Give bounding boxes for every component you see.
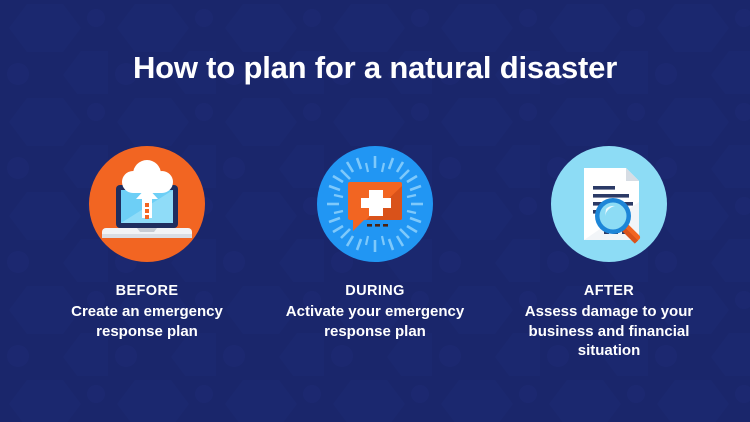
step-heading-before: BEFORE <box>32 282 262 301</box>
emergency-alert-speech-bubble-icon <box>317 146 433 262</box>
step-heading-after: AFTER <box>494 282 724 301</box>
step-icon-circle-after <box>551 146 667 262</box>
step-icon-circle-before <box>89 146 205 262</box>
step-heading-during: DURING <box>260 282 490 301</box>
step-card-before: BEFORE Create an emergency response plan <box>32 140 262 341</box>
document-magnifier-icon <box>551 146 667 262</box>
laptop-cloud-upload-icon <box>89 146 205 262</box>
infographic-poster: How to plan for a natural disaster <box>0 0 750 422</box>
step-description-before: Create an emergency response plan <box>32 302 262 341</box>
step-description-after: Assess damage to your business and finan… <box>494 302 724 361</box>
step-description-during: Activate your emergency response plan <box>260 302 490 341</box>
page-title: How to plan for a natural disaster <box>0 48 750 88</box>
step-card-during: DURING Activate your emergency response … <box>260 140 490 341</box>
step-card-after: AFTER Assess damage to your business and… <box>494 140 724 361</box>
step-icon-circle-during <box>317 146 433 262</box>
